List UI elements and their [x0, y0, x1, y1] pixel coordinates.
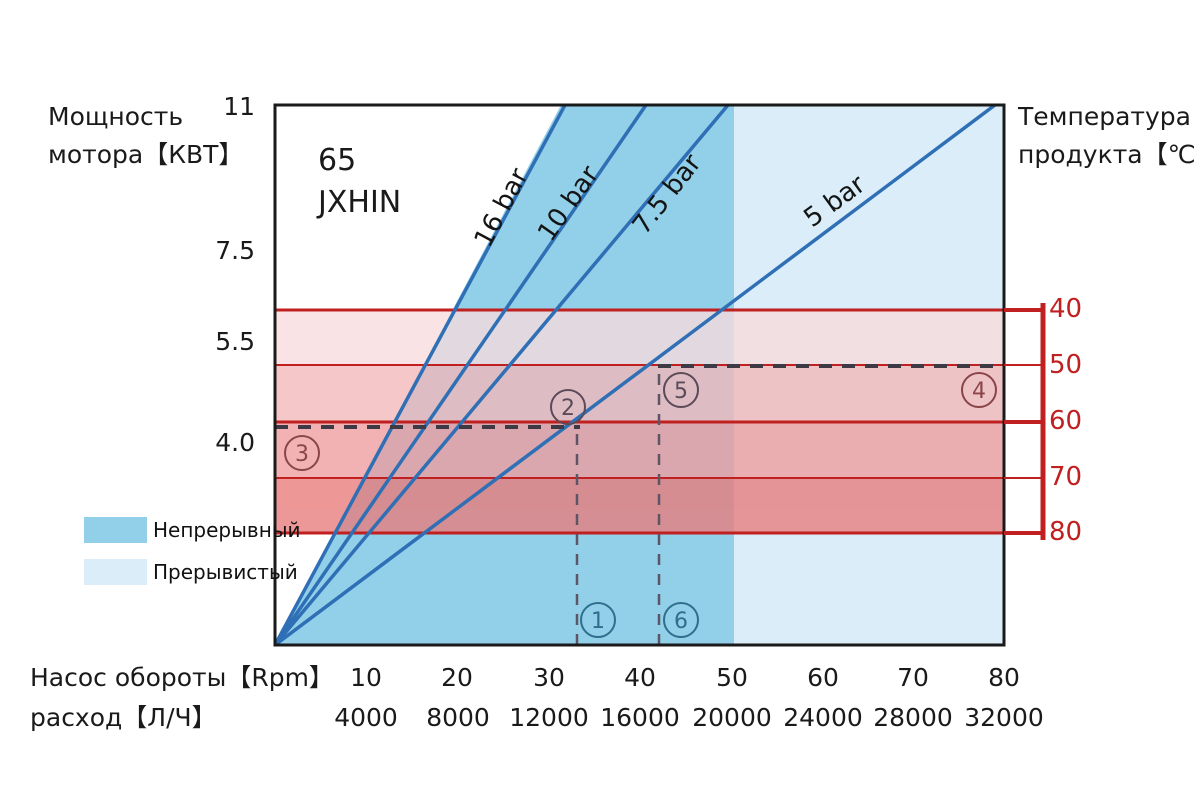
y2-tick-80: 80	[1049, 517, 1109, 547]
x-tick-rpm-80: 80	[959, 663, 1049, 692]
legend-item-continuous: Непрерывный	[84, 514, 301, 546]
chart-canvas: 1 6 2 3 4 5 16 b	[0, 0, 1194, 789]
legend-item-intermittent: Прерывистый	[84, 556, 301, 588]
y2-axis-title-line2: продукта【℃】	[1018, 136, 1194, 174]
x-axis-title-line1: Насос обороты【Rpm】	[30, 658, 334, 698]
svg-text:6: 6	[674, 609, 688, 634]
x-tick-rpm-60: 60	[778, 663, 868, 692]
y-tick-7p5: 7.5	[185, 236, 255, 265]
y-tick-11: 11	[185, 92, 255, 121]
y2-axis-title-line1: Температура	[1018, 98, 1194, 136]
svg-text:4: 4	[972, 379, 986, 404]
y2-axis-title: Температура продукта【℃】	[1018, 98, 1194, 174]
legend-label-continuous: Непрерывный	[153, 518, 301, 542]
legend-swatch-continuous	[84, 517, 147, 543]
y-axis-title-line2: мотора【КВТ】	[48, 136, 243, 174]
svg-text:3: 3	[295, 442, 309, 467]
legend-swatch-intermittent	[84, 559, 147, 585]
y2-tick-50: 50	[1049, 350, 1109, 380]
temperature-axis	[1004, 303, 1043, 540]
svg-text:2: 2	[561, 396, 575, 421]
band-40-50	[275, 310, 1004, 365]
legend: Непрерывный Прерывистый	[84, 514, 301, 598]
x-axis-title-line2: расход【Л/Ч】	[30, 698, 334, 738]
x-tick-rpm-70: 70	[868, 663, 958, 692]
svg-text:1: 1	[591, 609, 605, 634]
x-tick-rpm-10: 10	[321, 663, 411, 692]
x-tick-rpm-30: 30	[504, 663, 594, 692]
y2-tick-40: 40	[1049, 294, 1109, 324]
x-tick-flow-32000: 32000	[949, 703, 1059, 732]
x-tick-rpm-20: 20	[412, 663, 502, 692]
y2-tick-60: 60	[1049, 406, 1109, 436]
svg-text:5: 5	[674, 379, 688, 404]
model-label-line2: JXHIN	[318, 182, 401, 224]
x-tick-rpm-50: 50	[687, 663, 777, 692]
x-tick-rpm-40: 40	[595, 663, 685, 692]
band-60-70	[275, 422, 1004, 478]
legend-label-intermittent: Прерывистый	[153, 560, 298, 584]
model-label-line1: 65	[318, 140, 401, 182]
x-axis-title: Насос обороты【Rpm】 расход【Л/Ч】	[30, 658, 334, 738]
y2-tick-70: 70	[1049, 462, 1109, 492]
y-tick-4p0: 4.0	[185, 428, 255, 457]
model-label: 65 JXHIN	[318, 140, 401, 224]
y-tick-5p5: 5.5	[185, 327, 255, 356]
